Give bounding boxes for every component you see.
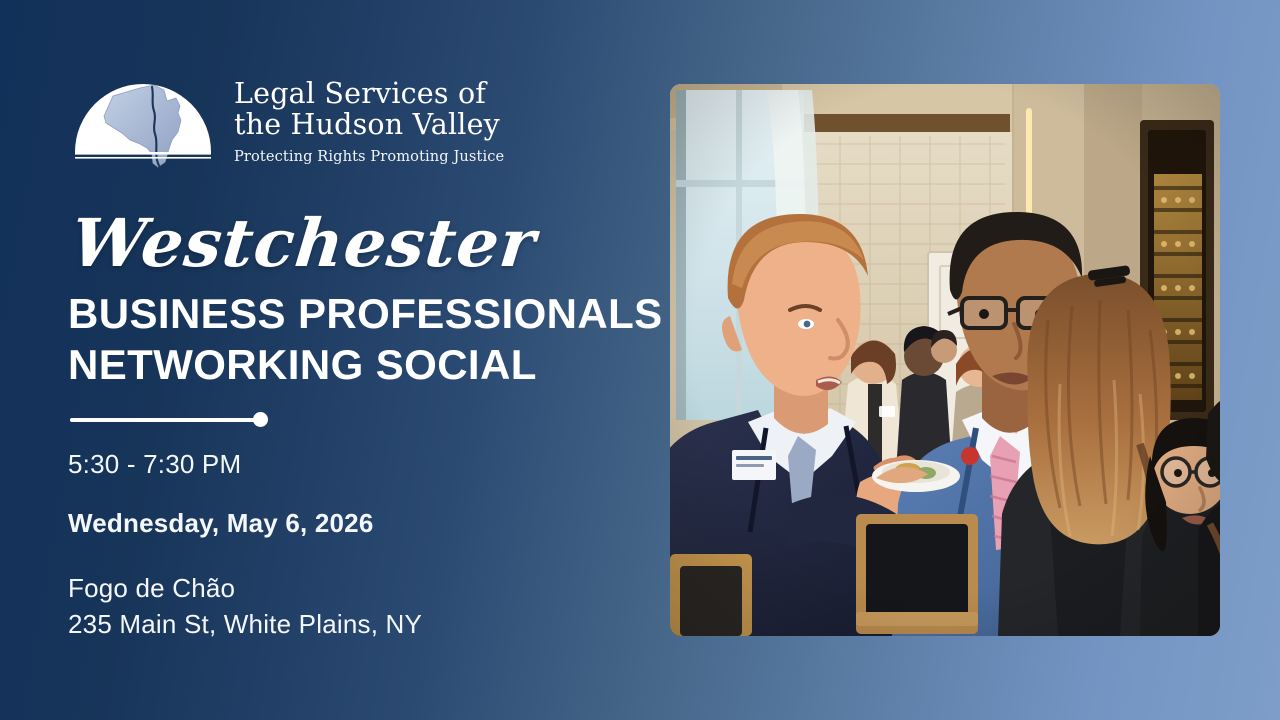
- divider-line: [70, 418, 260, 422]
- organization-logo: Legal Services of the Hudson Valley Prot…: [68, 66, 498, 166]
- logo-line-2: the Hudson Valley: [234, 109, 504, 140]
- hudson-valley-map-arch-icon: [68, 68, 218, 168]
- event-venue-address: 235 Main St, White Plains, NY: [68, 606, 628, 642]
- headline-block: Westchester BUSINESS PROFESSIONALS NETWO…: [68, 206, 628, 428]
- decorative-divider: [68, 412, 268, 428]
- logo-wordmark: Legal Services of the Hudson Valley Prot…: [234, 78, 504, 165]
- logo-tagline: Protecting Rights Promoting Justice: [234, 148, 504, 165]
- event-photo: [670, 84, 1220, 636]
- event-script-title: Westchester: [68, 206, 636, 280]
- logo-line-1: Legal Services of: [234, 78, 504, 109]
- event-flyer: Legal Services of the Hudson Valley Prot…: [0, 0, 1280, 720]
- event-time: 5:30 - 7:30 PM: [68, 448, 628, 480]
- event-venue-name: Fogo de Chão: [68, 570, 628, 606]
- event-date: Wednesday, May 6, 2026: [68, 507, 628, 539]
- divider-dot-icon: [253, 412, 268, 427]
- event-title-line-1: BUSINESS PROFESSIONALS: [68, 288, 628, 339]
- event-title-line-2: NETWORKING SOCIAL: [68, 339, 628, 390]
- event-details: 5:30 - 7:30 PM Wednesday, May 6, 2026 Fo…: [68, 448, 628, 642]
